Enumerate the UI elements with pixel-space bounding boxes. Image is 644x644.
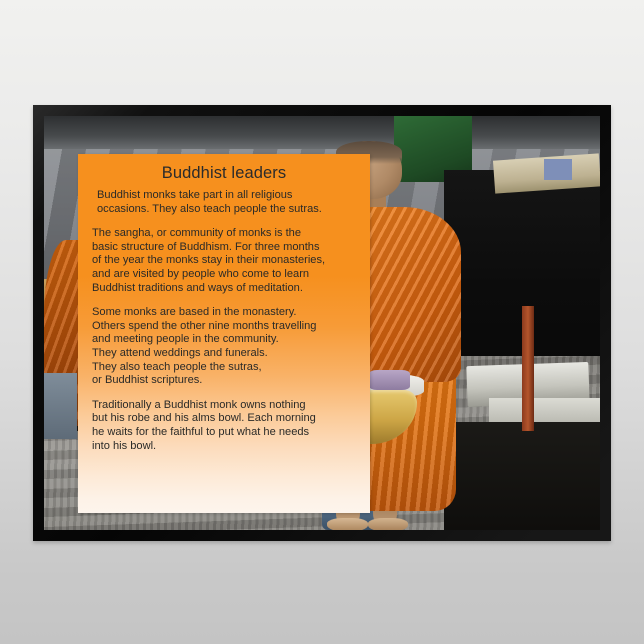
poster-frame: Buddhist leaders Buddhist monks take par…	[33, 105, 611, 541]
poster-body: Buddhist monks take part in all religiou…	[78, 183, 370, 453]
poster-photograph: Buddhist leaders Buddhist monks take par…	[44, 116, 600, 530]
paragraph-4: Traditionally a Buddhist monk owns nothi…	[92, 399, 358, 453]
poster-text-panel: Buddhist leaders Buddhist monks take par…	[78, 154, 370, 513]
rusty-pipe	[522, 306, 534, 430]
box-label	[544, 159, 572, 180]
bystander-legs	[44, 373, 77, 439]
paragraph-1: Buddhist monks take part in all religiou…	[92, 189, 358, 216]
paragraph-3: Some monks are based in the monastery. O…	[92, 306, 358, 388]
monk-left-foot	[327, 518, 367, 530]
paragraph-2: The sangha, or community of monks is the…	[92, 227, 358, 295]
poster-title: Buddhist leaders	[78, 154, 370, 183]
monk-right-foot	[368, 518, 408, 530]
alms-bowl-cloth	[369, 370, 409, 389]
